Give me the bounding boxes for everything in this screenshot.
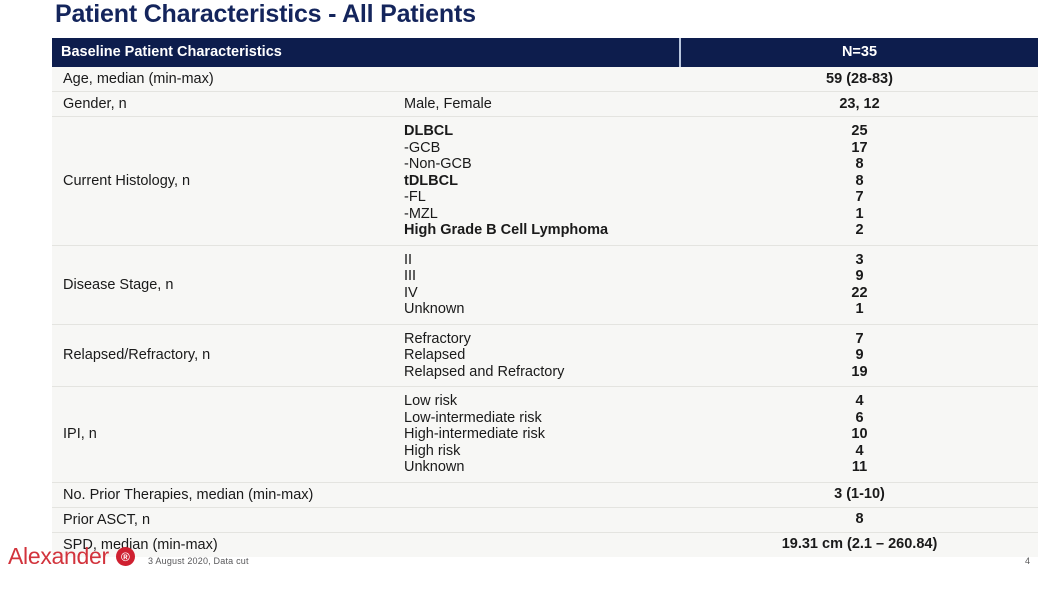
- row-label: Relapsed/Refractory, n: [52, 347, 404, 363]
- subcategory-item: -Non-GCB: [404, 156, 681, 173]
- row-label: Age, median (min-max): [52, 71, 404, 87]
- row-value: 4: [681, 443, 1038, 460]
- subcategory-item: III: [404, 268, 681, 285]
- bullet-dash-icon: -: [404, 156, 409, 172]
- footer-data-cut-note: 3 August 2020, Data cut: [148, 556, 249, 566]
- table-header-n: N=35: [681, 38, 1038, 67]
- patient-characteristics-table: Baseline Patient Characteristics N=35 Ag…: [52, 38, 1038, 557]
- row-value: 8: [681, 156, 1038, 173]
- row-value: 8: [681, 173, 1038, 190]
- table-row: IPI, nLow riskLow-intermediate riskHigh-…: [52, 387, 1038, 483]
- row-value: 3: [681, 252, 1038, 269]
- row-value: 1: [681, 301, 1038, 318]
- page-number: 4: [1025, 556, 1030, 566]
- table-row: SPD, median (min-max)19.31 cm (2.1 – 260…: [52, 533, 1038, 557]
- subcategory-item: Low-intermediate risk: [404, 410, 681, 427]
- row-value: 3 (1-10): [681, 486, 1038, 503]
- table-row: No. Prior Therapies, median (min-max)3 (…: [52, 483, 1038, 508]
- row-label: Prior ASCT, n: [52, 512, 404, 528]
- row-value: 10: [681, 426, 1038, 443]
- subcategory-item: Unknown: [404, 459, 681, 476]
- registered-mark-icon: ®: [116, 547, 135, 566]
- row-value: 8: [681, 511, 1038, 528]
- row-values: 59 (28-83): [681, 71, 1038, 88]
- row-values: 4610411: [681, 393, 1038, 476]
- row-subcategories: Male, Female: [404, 96, 681, 113]
- row-value: 7: [681, 189, 1038, 206]
- table-row: Relapsed/Refractory, nRefractoryRelapsed…: [52, 325, 1038, 388]
- bullet-dash-icon: -: [404, 189, 409, 205]
- row-value: 25: [681, 123, 1038, 140]
- table-row: Current Histology, nDLBCL-GCB-Non-GCBtDL…: [52, 117, 1038, 246]
- table-row: Disease Stage, nIIIIIIVUnknown39221: [52, 246, 1038, 325]
- bullet-dash-icon: -: [404, 206, 409, 222]
- table-row: Prior ASCT, n8: [52, 508, 1038, 533]
- subcategory-item: High-intermediate risk: [404, 426, 681, 443]
- table-header-characteristics: Baseline Patient Characteristics: [52, 38, 681, 67]
- subcategory-item: -GCB: [404, 140, 681, 157]
- subcategory-item: High Grade B Cell Lymphoma: [404, 222, 681, 239]
- row-value: 19.31 cm (2.1 – 260.84): [681, 536, 1038, 553]
- subcategory-item: Relapsed: [404, 347, 681, 364]
- row-label: Gender, n: [52, 96, 404, 112]
- subcategory-item: Relapsed and Refractory: [404, 364, 681, 381]
- row-values: 8: [681, 511, 1038, 528]
- table-row: Gender, nMale, Female23, 12: [52, 92, 1038, 117]
- subcategory-item: DLBCL: [404, 123, 681, 140]
- row-value: 2: [681, 222, 1038, 239]
- row-values: 3 (1-10): [681, 486, 1038, 503]
- row-value: 7: [681, 331, 1038, 348]
- row-value: 4: [681, 393, 1038, 410]
- subcategory-item: Low risk: [404, 393, 681, 410]
- row-value: 9: [681, 268, 1038, 285]
- row-values: 7919: [681, 331, 1038, 381]
- row-subcategories: IIIIIIVUnknown: [404, 252, 681, 318]
- subcategory-item: -MZL: [404, 206, 681, 223]
- row-values: 23, 12: [681, 96, 1038, 113]
- row-label: Disease Stage, n: [52, 277, 404, 293]
- subcategory-item: tDLBCL: [404, 173, 681, 190]
- row-value: 17: [681, 140, 1038, 157]
- row-subcategories: DLBCL-GCB-Non-GCBtDLBCL-FL-MZLHigh Grade…: [404, 123, 681, 239]
- row-value: 59 (28-83): [681, 71, 1038, 88]
- subcategory-item: IV: [404, 285, 681, 302]
- table-body: Age, median (min-max)59 (28-83)Gender, n…: [52, 67, 1038, 557]
- row-value: 22: [681, 285, 1038, 302]
- row-value: 19: [681, 364, 1038, 381]
- subcategory-item: Unknown: [404, 301, 681, 318]
- row-subcategories: Low riskLow-intermediate riskHigh-interm…: [404, 393, 681, 476]
- subcategory-item: Male, Female: [404, 96, 681, 113]
- row-value: 1: [681, 206, 1038, 223]
- row-value: 11: [681, 459, 1038, 476]
- row-label: No. Prior Therapies, median (min-max): [52, 487, 404, 503]
- subcategory-item: High risk: [404, 443, 681, 460]
- row-label: Current Histology, n: [52, 173, 404, 189]
- page-title: Patient Characteristics - All Patients: [55, 0, 476, 29]
- brand-logo: Alexander ®: [8, 543, 135, 570]
- table-row: Age, median (min-max)59 (28-83): [52, 67, 1038, 92]
- subcategory-item: -FL: [404, 189, 681, 206]
- table-header-row: Baseline Patient Characteristics N=35: [52, 38, 1038, 67]
- row-values: 251788712: [681, 123, 1038, 239]
- bullet-dash-icon: -: [404, 140, 409, 156]
- subcategory-item: II: [404, 252, 681, 269]
- row-value: 6: [681, 410, 1038, 427]
- row-values: 19.31 cm (2.1 – 260.84): [681, 536, 1038, 553]
- row-value: 9: [681, 347, 1038, 364]
- logo-wordmark: Alexander: [8, 543, 109, 570]
- row-subcategories: RefractoryRelapsedRelapsed and Refractor…: [404, 331, 681, 381]
- subcategory-item: Refractory: [404, 331, 681, 348]
- row-value: 23, 12: [681, 96, 1038, 113]
- row-values: 39221: [681, 252, 1038, 318]
- row-label: IPI, n: [52, 426, 404, 442]
